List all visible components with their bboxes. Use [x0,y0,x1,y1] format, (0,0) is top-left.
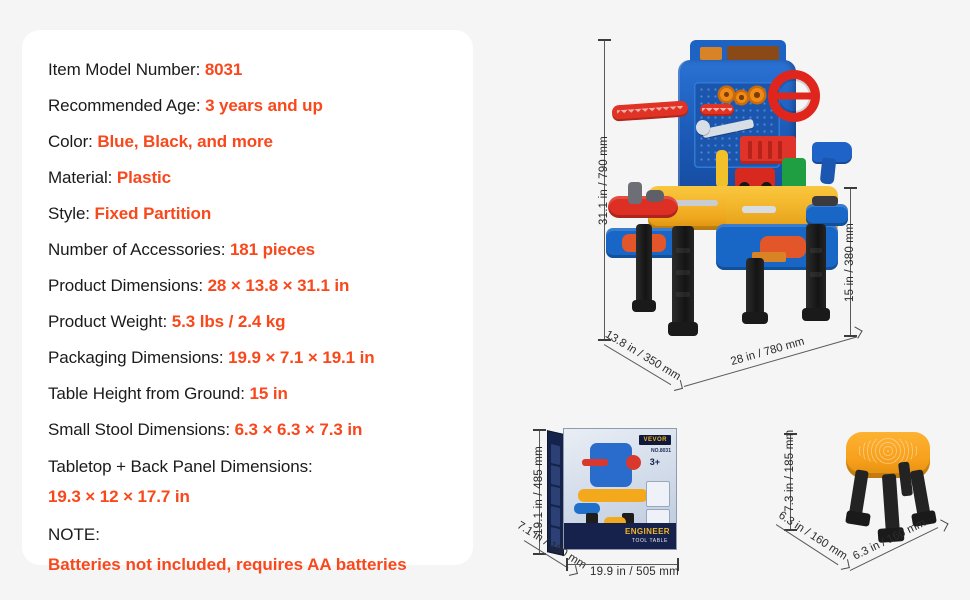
spec-value: 28 × 13.8 × 31.1 in [208,276,350,295]
stool-width-dimension-line: 6.3 in / 160 mm [850,527,939,571]
leg-foot [742,312,768,324]
table-leg-back-left [636,224,652,308]
tool-on-table [672,200,718,206]
box-art-inset-top [646,481,670,507]
gear-icon [736,92,747,103]
spec-value: Fixed Partition [95,204,212,223]
blue-tray-right [806,204,848,226]
gear-icon [750,88,764,102]
saw-teeth [616,105,683,115]
spec-value: 19.3 × 12 × 17.7 in [48,482,447,512]
saw-teeth [702,108,732,112]
dimension-cap [844,187,857,189]
spec-value: 3 years and up [205,96,323,115]
leg-notch [676,248,690,253]
box-art-saw [582,459,608,466]
spec-label: Material: [48,168,112,187]
crown-plate-right [727,46,779,61]
gear-icon [720,88,733,101]
box-art-tabletop [578,489,648,502]
box-title: ENGINEER [625,527,670,536]
spec-value: 19.9 × 7.1 × 19.1 in [228,348,374,367]
package-instruction-thumbnails [551,444,560,548]
spec-row-color: Color: Blue, Black, and more [48,124,447,160]
toolbox-slat [758,141,762,159]
stool-seat-rings [858,438,918,464]
note-label: NOTE: [48,525,100,544]
spec-value: Plastic [117,168,171,187]
spec-label: Product Weight: [48,312,167,331]
steering-wheel [768,70,820,122]
spec-label: Item Model Number: [48,60,200,79]
yellow-figure [716,150,728,188]
spec-value: Blue, Black, and more [97,132,273,151]
box-model-number: NO.8031 [651,448,671,454]
thumbnail [551,444,560,465]
box-art-wheel [626,455,641,470]
spec-row-recommended-age: Recommended Age: 3 years and up [48,88,447,124]
spec-row-material: Material: Plastic [48,160,447,196]
spec-row-table-height: Table Height from Ground: 15 in [48,376,447,412]
dimension-arrow [936,519,948,531]
gray-cylinder [628,182,642,204]
thumbnail [551,506,560,527]
spec-label: Tabletop + Back Panel Dimensions: [48,457,313,476]
workbench-depth-label: 13.8 in / 350 mm [603,328,683,382]
table-leg-front-right [806,224,826,316]
dimension-arrow [672,380,683,391]
spec-label: Recommended Age: [48,96,200,115]
package-front-panel: VEVOR NO.8031 3+ ENGINEER TOOL TABLE [563,428,677,550]
spec-row-number-of-accessories: Number of Accessories: 181 pieces [48,232,447,268]
spec-value: 181 pieces [230,240,315,259]
hammer-head [812,196,838,206]
leg-foot [632,300,656,312]
spec-row-product-weight: Product Weight: 5.3 lbs / 2.4 kg [48,304,447,340]
spec-label: Number of Accessories: [48,240,225,259]
table-leg-front-left [672,226,694,330]
table-leg-center [746,258,764,320]
product-spec-infographic: Item Model Number: 8031 Recommended Age:… [0,0,970,600]
saw-tool-left [612,100,689,121]
package-width-label: 19.9 in / 505 mm [590,566,679,578]
workbench-height-label: 31.1 in / 790 mm [598,136,610,225]
package-depth-dimension-line: 7.1 in / 180 mm [524,540,569,569]
gray-cylinder [646,190,664,202]
stool-depth-label: 6.3 in / 160 mm [776,509,849,562]
leg-foot [668,322,698,336]
leg-notch [676,270,690,275]
note-value: Batteries not included, requires AA batt… [48,550,447,580]
toolbox-slat [778,141,782,159]
spec-row-product-dimensions: Product Dimensions: 28 × 13.8 × 31.1 in [48,268,447,304]
toolbox-slat [768,141,772,159]
table-height-label: 15 in / 380 mm [844,223,856,302]
spec-row-style: Style: Fixed Partition [48,196,447,232]
specification-card: Item Model Number: 8031 Recommended Age:… [22,30,473,565]
crown-plate-left [700,47,722,60]
package-height-label: 19.1 in / 485 mm [533,446,545,535]
spec-row-tabletop-back-panel-dimensions: Tabletop + Back Panel Dimensions: 19.3 ×… [48,452,447,512]
note-block: NOTE: Batteries not included, requires A… [48,520,447,580]
dimension-arrow [567,565,578,576]
thumbnail [551,486,560,507]
tool-on-table [742,206,776,213]
leg-notch [676,292,690,297]
spec-value: 5.3 lbs / 2.4 kg [172,312,286,331]
wheel-spoke [777,93,811,100]
leg-foot [802,308,830,321]
spec-label: Table Height from Ground: [48,384,245,403]
spec-label: Packaging Dimensions: [48,348,224,367]
spec-row-item-model-number: Item Model Number: 8031 [48,52,447,88]
brand-logo: VEVOR [639,435,671,445]
spec-row-packaging-dimensions: Packaging Dimensions: 19.9 × 7.1 × 19.1 … [48,340,447,376]
spec-value: 8031 [205,60,242,79]
dimension-cap [533,429,546,431]
spec-label: Small Stool Dimensions: [48,420,230,439]
spec-label: Style: [48,204,90,223]
spec-label: Product Dimensions: [48,276,203,295]
spec-label: Color: [48,132,93,151]
stool-foot [845,510,871,527]
red-round-tray [608,196,678,218]
age-rating-badge: 3+ [650,457,660,467]
dimension-arrow [839,559,850,570]
saw-blade-red [700,104,734,116]
stool-height-label: 7.3 in / 185 mm [784,430,796,512]
spec-value: 15 in [250,384,288,403]
stool-depth-dimension-line: 6.3 in / 160 mm [776,524,839,565]
width-dimension-line: 28 in / 780 mm [684,336,857,387]
spec-row-small-stool-dimensions: Small Stool Dimensions: 6.3 × 6.3 × 7.3 … [48,412,447,448]
dimension-cap [598,39,611,41]
leg-notch [810,272,823,277]
spec-value: 6.3 × 6.3 × 7.3 in [235,420,363,439]
depth-dimension-line: 13.8 in / 350 mm [604,344,672,385]
dimension-cap [566,558,568,571]
drill-grip [819,157,836,184]
drill-icon [812,142,852,164]
thumbnail [551,465,560,486]
leg-notch [810,248,823,253]
toolbox-slat [748,141,752,159]
box-subtitle: TOOL TABLE [632,538,668,544]
